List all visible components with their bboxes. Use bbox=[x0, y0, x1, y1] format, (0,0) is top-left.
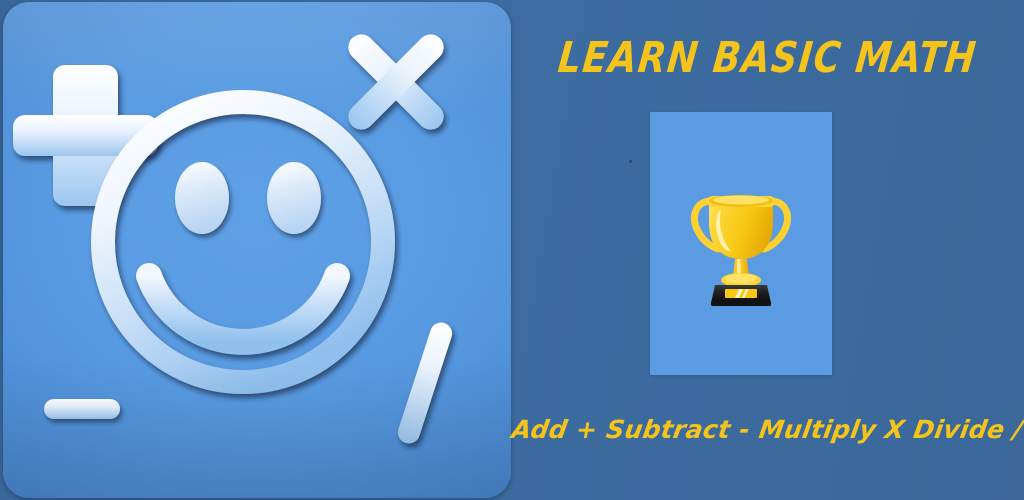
page-title: LEARN BASIC MATH bbox=[508, 34, 1024, 82]
page-subtitle: Add + Subtract - Multiply X Divide / bbox=[509, 415, 1024, 444]
decorative-speck bbox=[629, 160, 632, 163]
divide-icon bbox=[395, 320, 455, 447]
banner-content: LEARN BASIC MATH bbox=[511, 0, 1024, 500]
app-icon-tile[interactable] bbox=[3, 2, 511, 498]
multiply-icon bbox=[343, 29, 449, 135]
app-icon-artwork bbox=[3, 2, 511, 498]
promo-banner: LEARN BASIC MATH bbox=[0, 0, 1024, 500]
trophy-screenshot-panel[interactable] bbox=[650, 112, 832, 375]
minus-icon bbox=[44, 399, 120, 419]
smiley-mouth bbox=[149, 276, 337, 342]
trophy-icon bbox=[685, 181, 797, 307]
smiley-eyes bbox=[175, 162, 321, 234]
